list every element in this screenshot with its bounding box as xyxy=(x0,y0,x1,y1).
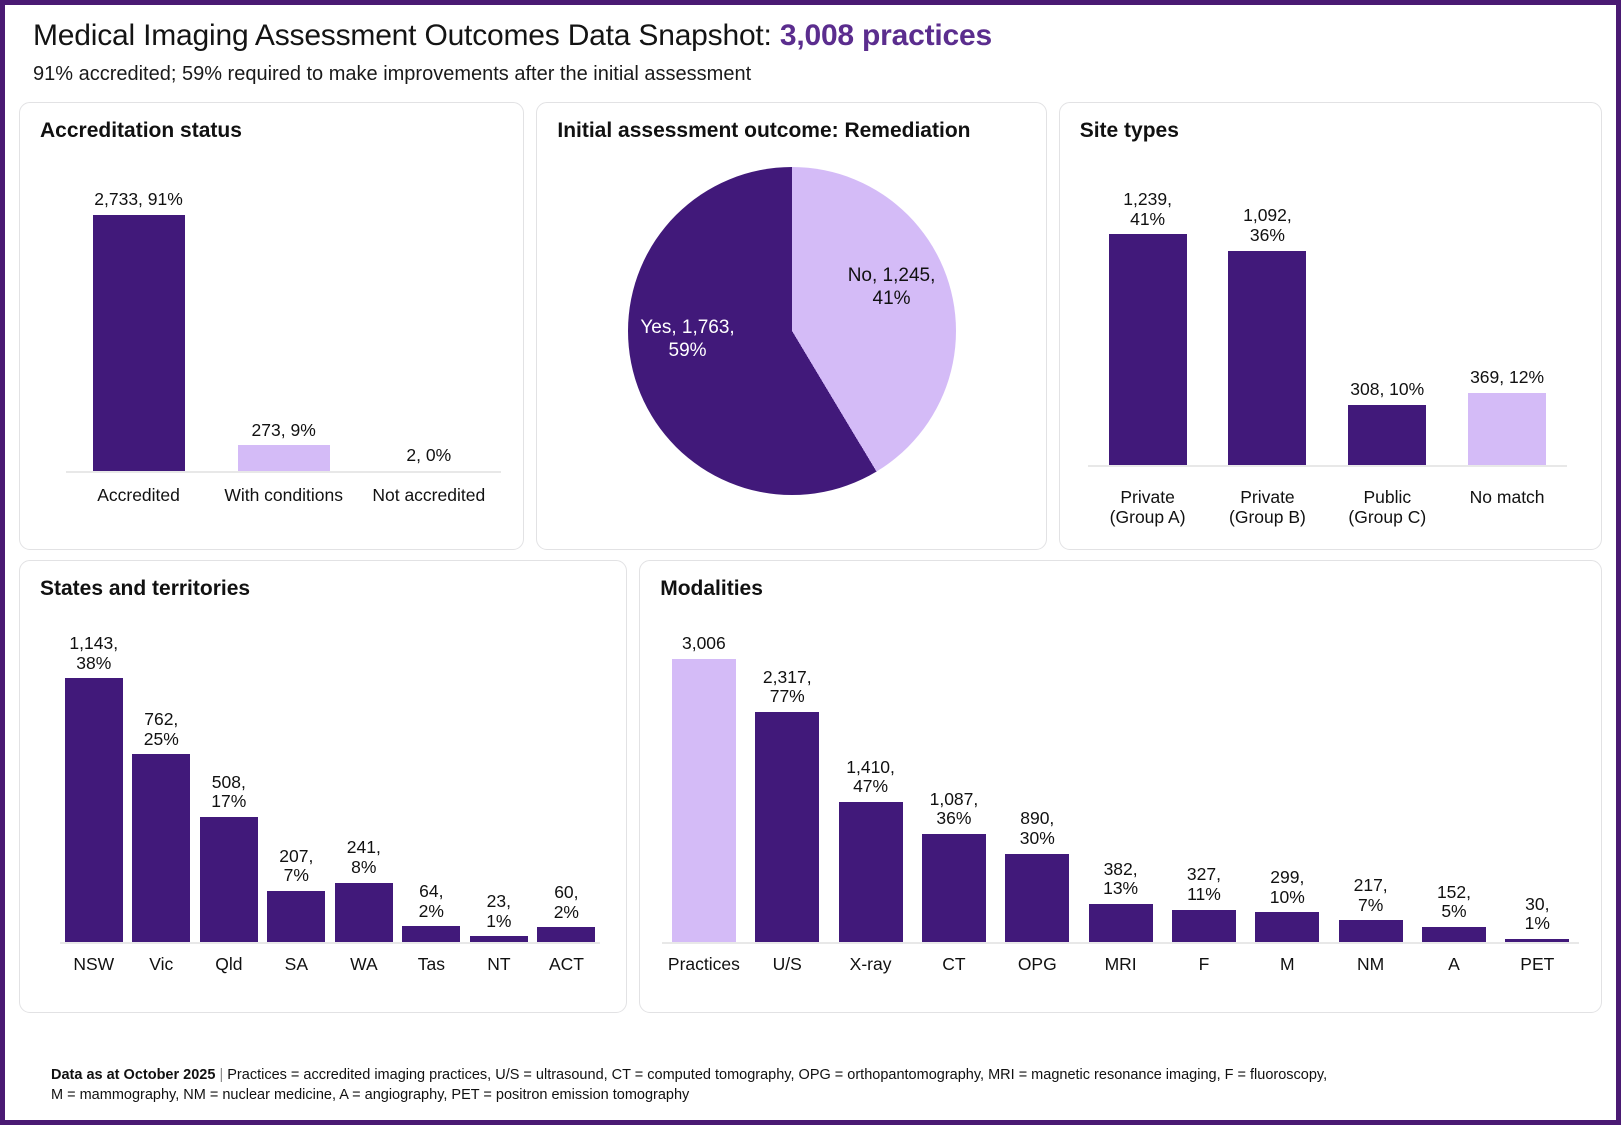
x-axis-label: PET xyxy=(1497,954,1577,974)
bar-column: 217, 7% xyxy=(1339,634,1403,942)
bar xyxy=(755,712,819,942)
x-axis-label: A xyxy=(1414,954,1494,974)
bar-value-label: 308, 10% xyxy=(1350,380,1424,400)
bar-column: 382, 13% xyxy=(1089,634,1153,942)
x-axis-label: X-ray xyxy=(831,954,911,974)
bar-value-label: 3,006 xyxy=(682,634,726,654)
bar xyxy=(267,891,325,942)
x-axis-label: NT xyxy=(465,954,533,974)
bar-value-label: 152, 5% xyxy=(1437,883,1471,922)
bar-column: 273, 9% xyxy=(238,189,330,471)
bar xyxy=(839,802,903,942)
x-axis-label: No match xyxy=(1447,487,1567,527)
footnote-separator: | xyxy=(215,1067,227,1083)
card-title-accreditation: Accreditation status xyxy=(20,103,523,143)
bar-value-label: 30, 1% xyxy=(1525,895,1550,934)
card-states-territories: States and territories 1,143, 38%762, 25… xyxy=(19,560,627,1013)
footnote-date: Data as at October 2025 xyxy=(51,1067,215,1083)
page-title: Medical Imaging Assessment Outcomes Data… xyxy=(33,19,1616,53)
bar xyxy=(672,659,736,942)
bar-value-label: 1,239, 41% xyxy=(1109,190,1187,229)
bar-column: 1,143, 38% xyxy=(65,634,123,942)
bar-value-label: 241, 8% xyxy=(347,838,381,877)
bar-value-label: 60, 2% xyxy=(554,883,579,922)
bar-value-label: 207, 7% xyxy=(279,847,313,886)
x-axis-label: CT xyxy=(914,954,994,974)
bar-value-label: 2,733, 91% xyxy=(94,190,183,210)
bar xyxy=(1422,927,1486,942)
bar-column: 762, 25% xyxy=(132,634,190,942)
site-types-x-labels: Private (Group A)Private (Group B)Public… xyxy=(1088,487,1567,527)
bar-value-label: 1,410, 47% xyxy=(846,758,895,797)
x-axis-label: Public (Group C) xyxy=(1327,487,1447,527)
states-bars: 1,143, 38%762, 25%508, 17%207, 7%241, 8%… xyxy=(60,634,600,942)
card-title-site-types: Site types xyxy=(1060,103,1601,143)
x-axis-label: M xyxy=(1247,954,1327,974)
bar-column: 508, 17% xyxy=(200,634,258,942)
accreditation-bars: 2,733, 91%273, 9%2, 0% xyxy=(66,189,501,471)
bar-column: 2, 0% xyxy=(383,189,475,471)
footnote: Data as at October 2025 | Practices = ac… xyxy=(51,1065,1327,1106)
bar-column: 241, 8% xyxy=(335,634,393,942)
bar-column: 1,410, 47% xyxy=(839,634,903,942)
remediation-pie-chart: No, 1,245, 41% Yes, 1,763, 59% xyxy=(628,167,956,495)
bar xyxy=(93,215,185,471)
page-subtitle: 91% accredited; 59% required to make imp… xyxy=(33,63,1616,86)
x-axis-label: U/S xyxy=(747,954,827,974)
x-axis-label: NSW xyxy=(60,954,128,974)
bar-column: 1,239, 41% xyxy=(1109,190,1187,465)
bar-value-label: 2,317, 77% xyxy=(763,668,812,707)
bar-value-label: 1,087, 36% xyxy=(930,790,979,829)
page-title-prefix: Medical Imaging Assessment Outcomes Data… xyxy=(33,19,780,52)
bar-value-label: 217, 7% xyxy=(1354,876,1388,915)
bar-value-label: 1,143, 38% xyxy=(69,634,118,673)
bar-value-label: 273, 9% xyxy=(252,421,316,441)
bar xyxy=(1468,393,1546,465)
card-remediation-outcome: Initial assessment outcome: Remediation … xyxy=(536,102,1046,550)
card-accreditation-status: Accreditation status 2,733, 91%273, 9%2,… xyxy=(19,102,524,550)
x-axis-label: Vic xyxy=(128,954,196,974)
pie-chart-wrapper: No, 1,245, 41% Yes, 1,763, 59% xyxy=(537,167,1045,495)
bar-value-label: 1,092, 36% xyxy=(1228,206,1306,245)
card-modalities: Modalities 3,0062,317, 77%1,410, 47%1,08… xyxy=(639,560,1602,1013)
accreditation-axis-line xyxy=(66,471,501,473)
card-title-modalities: Modalities xyxy=(640,561,1601,601)
x-axis-label: Practices xyxy=(664,954,744,974)
x-axis-label: Qld xyxy=(195,954,263,974)
bar xyxy=(922,834,986,942)
charts-row-bottom: States and territories 1,143, 38%762, 25… xyxy=(5,550,1616,1013)
x-axis-label: MRI xyxy=(1081,954,1161,974)
bar-value-label: 2, 0% xyxy=(406,446,451,466)
bar xyxy=(1348,405,1426,466)
bar-value-label: 23, 1% xyxy=(486,892,511,931)
footnote-abbreviations-line1: Practices = accredited imaging practices… xyxy=(227,1067,1327,1083)
site-types-bars: 1,239, 41%1,092, 36%308, 10%369, 12% xyxy=(1088,190,1567,465)
modalities-axis-line xyxy=(662,942,1579,944)
x-axis-label: With conditions xyxy=(219,485,349,505)
bar-column: 327, 11% xyxy=(1172,634,1236,942)
bar xyxy=(132,754,190,942)
bar-column: 1,087, 36% xyxy=(922,634,986,942)
bar-column: 299, 10% xyxy=(1255,634,1319,942)
card-site-types: Site types 1,239, 41%1,092, 36%308, 10%3… xyxy=(1059,102,1602,550)
bar-column: 890, 30% xyxy=(1005,634,1069,942)
charts-row-top: Accreditation status 2,733, 91%273, 9%2,… xyxy=(5,86,1616,550)
bar xyxy=(537,927,595,942)
bar-value-label: 890, 30% xyxy=(1020,809,1055,848)
bar xyxy=(402,926,460,942)
accreditation-x-labels: AccreditedWith conditionsNot accredited xyxy=(66,485,501,505)
bar-column: 2,317, 77% xyxy=(755,634,819,942)
bar xyxy=(1005,854,1069,942)
bar-column: 30, 1% xyxy=(1505,634,1569,942)
x-axis-label: F xyxy=(1164,954,1244,974)
bar-value-label: 327, 11% xyxy=(1187,865,1221,904)
bar-column: 1,092, 36% xyxy=(1228,190,1306,465)
card-title-states: States and territories xyxy=(20,561,626,601)
bar-column: 2,733, 91% xyxy=(93,189,185,471)
footnote-abbreviations-line2: M = mammography, NM = nuclear medicine, … xyxy=(51,1087,689,1103)
bar xyxy=(335,883,393,942)
x-axis-label: Accredited xyxy=(74,485,204,505)
x-axis-label: OPG xyxy=(997,954,1077,974)
dashboard-header: Medical Imaging Assessment Outcomes Data… xyxy=(5,5,1616,86)
bar-column: 3,006 xyxy=(672,634,736,942)
bar xyxy=(1255,912,1319,942)
x-axis-label: ACT xyxy=(533,954,601,974)
bar-column: 152, 5% xyxy=(1422,634,1486,942)
bar-column: 23, 1% xyxy=(470,634,528,942)
x-axis-label: WA xyxy=(330,954,398,974)
bar xyxy=(65,678,123,942)
x-axis-label: SA xyxy=(263,954,331,974)
bar xyxy=(1109,234,1187,465)
modalities-bars: 3,0062,317, 77%1,410, 47%1,087, 36%890, … xyxy=(662,634,1579,942)
states-x-labels: NSWVicQldSAWATasNTACT xyxy=(60,954,600,974)
x-axis-label: Private (Group A) xyxy=(1088,487,1208,527)
bar xyxy=(1172,910,1236,942)
dashboard-page: Medical Imaging Assessment Outcomes Data… xyxy=(0,0,1621,1125)
x-axis-label: Private (Group B) xyxy=(1208,487,1328,527)
bar-value-label: 762, 25% xyxy=(144,710,179,749)
bar-value-label: 299, 10% xyxy=(1270,868,1305,907)
bar xyxy=(200,817,258,942)
bar-column: 64, 2% xyxy=(402,634,460,942)
card-title-remediation: Initial assessment outcome: Remediation xyxy=(537,103,1045,143)
pie-slice-label-no: No, 1,245, 41% xyxy=(822,265,962,311)
page-title-accent: 3,008 practices xyxy=(780,19,992,52)
x-axis-label: Tas xyxy=(398,954,466,974)
bar-column: 60, 2% xyxy=(537,634,595,942)
bar-column: 308, 10% xyxy=(1348,190,1426,465)
bar xyxy=(1339,920,1403,942)
states-axis-line xyxy=(60,942,600,944)
x-axis-label: NM xyxy=(1331,954,1411,974)
bar xyxy=(1089,904,1153,942)
site-types-axis-line xyxy=(1088,465,1567,467)
bar-value-label: 508, 17% xyxy=(211,773,246,812)
x-axis-label: Not accredited xyxy=(364,485,494,505)
bar-value-label: 64, 2% xyxy=(419,882,444,921)
bar xyxy=(1228,251,1306,466)
bar-value-label: 369, 12% xyxy=(1470,368,1544,388)
bar-column: 369, 12% xyxy=(1468,190,1546,465)
modalities-x-labels: PracticesU/SX-rayCTOPGMRIFMNMAPET xyxy=(662,954,1579,974)
bar-value-label: 382, 13% xyxy=(1103,860,1138,899)
pie-slice-label-yes: Yes, 1,763, 59% xyxy=(608,317,768,363)
bar xyxy=(238,445,330,471)
bar-column: 207, 7% xyxy=(267,634,325,942)
